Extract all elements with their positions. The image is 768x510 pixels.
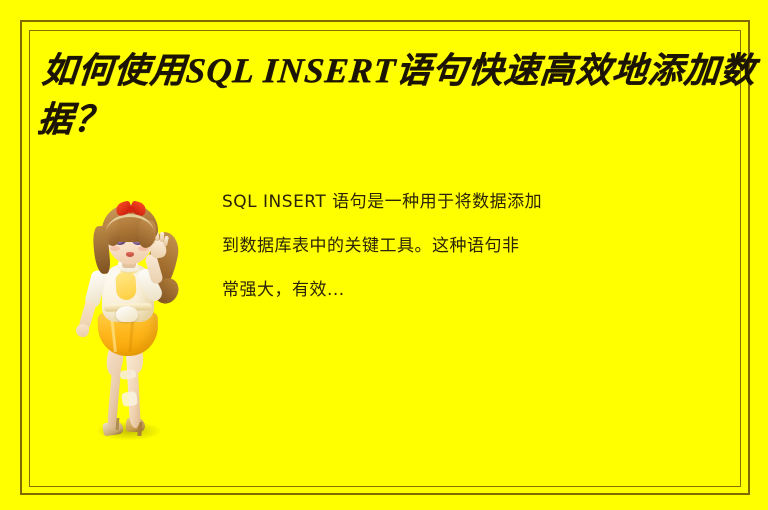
page-title: 如何使用SQL INSERT语句快速高效地添加数据？: [35, 46, 758, 144]
excerpt-line-1: SQL INSERT 语句是一种用于将数据添加: [222, 180, 552, 224]
mouth: [126, 252, 134, 257]
blush-left: [110, 246, 120, 251]
excerpt-line-2: 到数据库表中的关键工具。这种语句非: [222, 224, 552, 268]
blouse-inner-top: [115, 271, 136, 300]
necklace: [120, 266, 138, 274]
article-excerpt: SQL INSERT 语句是一种用于将数据添加 到数据库表中的关键工具。这种语句…: [222, 180, 552, 312]
article-card: 如何使用SQL INSERT语句快速高效地添加数据？ SQL INSERT 语句…: [0, 0, 768, 510]
excerpt-line-3: 常强大，有效...: [222, 268, 552, 312]
leg-wrap-detail: [121, 391, 138, 407]
hair-bow-knot: [127, 206, 134, 213]
character-illustration: [60, 160, 220, 460]
blouse-knot: [116, 306, 138, 322]
